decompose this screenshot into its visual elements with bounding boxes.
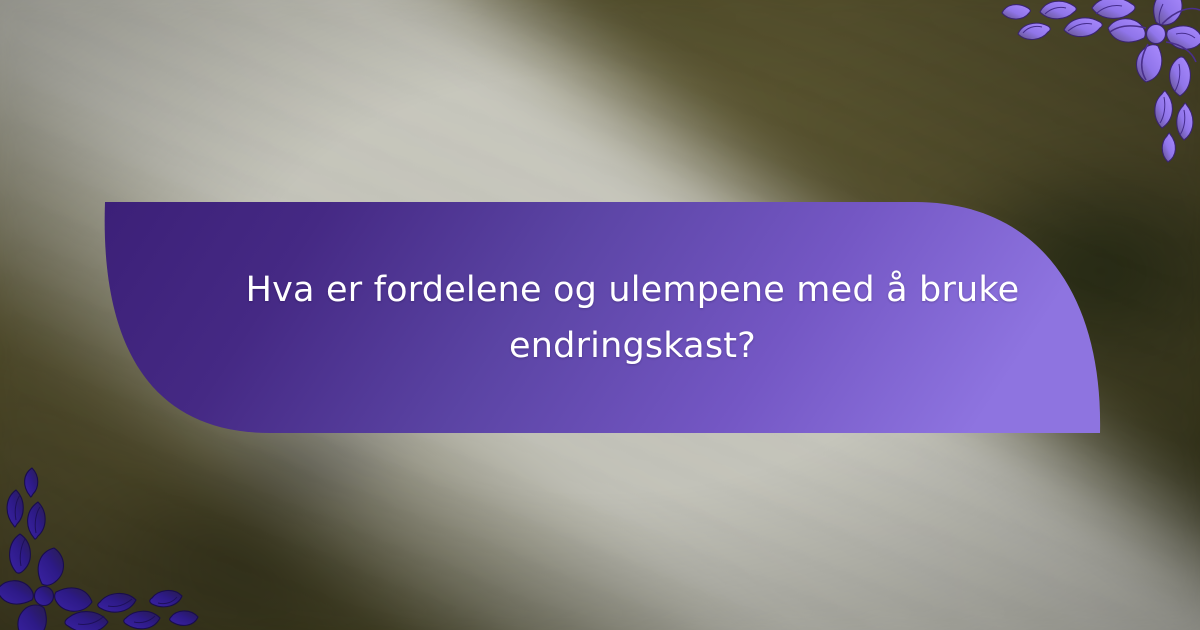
headline: Hva er fordelene og ulempene med å bruke…	[105, 202, 1100, 434]
share-card: Hva er fordelene og ulempene med å bruke…	[0, 0, 1200, 630]
headline-line-2: endringskast?	[509, 318, 756, 374]
headline-line-1: Hva er fordelene og ulempene med å bruke	[246, 262, 1020, 318]
